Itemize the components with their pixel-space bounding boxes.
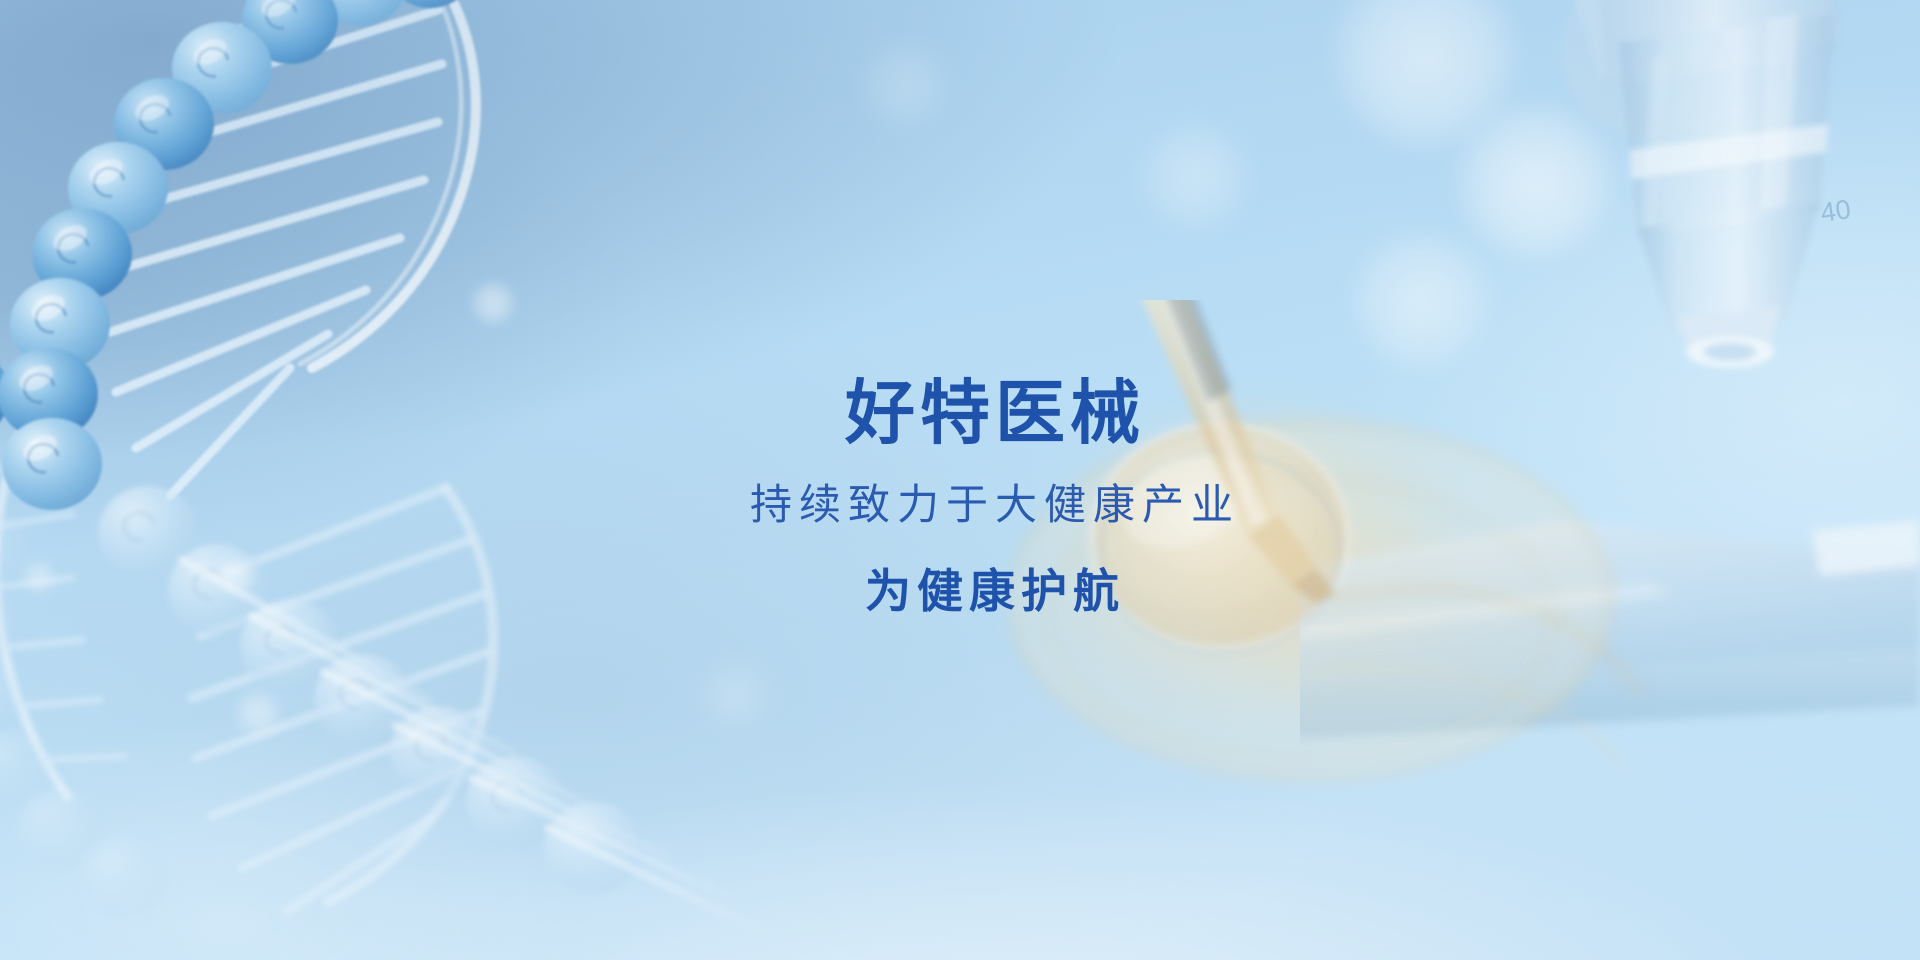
company-tagline: 为健康护航 (750, 568, 1240, 614)
company-subtitle: 持续致力于大健康产业 (750, 484, 1240, 526)
hero-banner: 40 (0, 0, 1920, 960)
company-title: 好特医械 (750, 378, 1240, 448)
hero-copy-block: 好特医械 持续致力于大健康产业 为健康护航 (0, 0, 1920, 960)
